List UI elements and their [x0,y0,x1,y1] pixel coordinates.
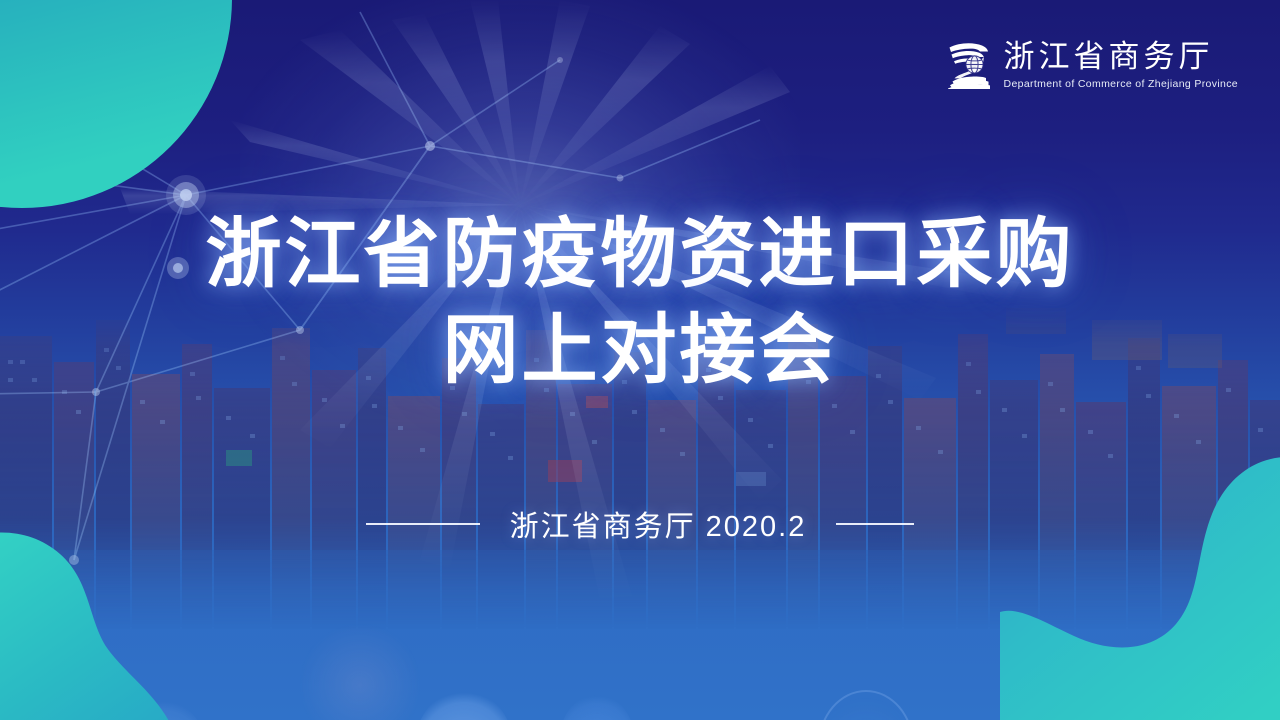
subtitle-rule-right [836,523,914,525]
zhejiang-commerce-emblem-icon [947,40,993,90]
slide-subtitle-row: 浙江省商务厅 2020.2 [0,503,1280,545]
slide-title: 浙江省防疫物资进口采购 网上对接会 [0,206,1280,398]
logo-name-en: Department of Commerce of Zhejiang Provi… [1004,78,1238,90]
logo-text-group: 浙江省商务厅 Department of Commerce of Zhejian… [1004,40,1238,89]
title-line-2: 网上对接会 [0,302,1280,398]
subtitle-rule-left [366,523,480,525]
title-line-1: 浙江省防疫物资进口采购 [0,206,1280,302]
subtitle-text: 浙江省商务厅 2020.2 [510,503,807,545]
title-slide: 浙江省商务厅 Department of Commerce of Zhejian… [0,0,1280,720]
organization-logo: 浙江省商务厅 Department of Commerce of Zhejian… [947,40,1238,90]
logo-name-cn: 浙江省商务厅 [1004,40,1238,73]
